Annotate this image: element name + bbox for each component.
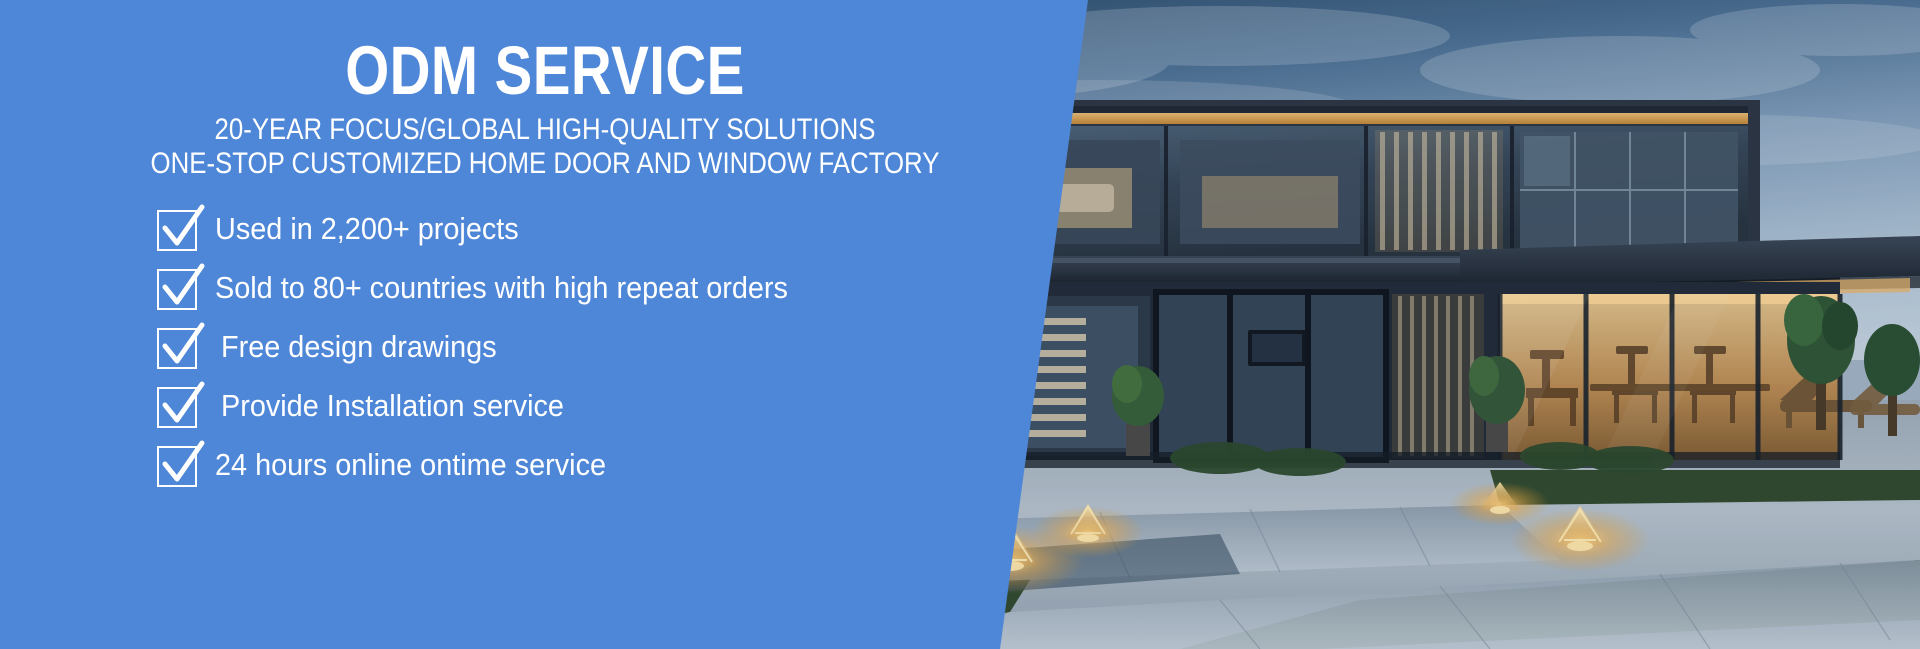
list-item-label: Sold to 80+ countries with high repeat o…	[215, 266, 788, 310]
list-item: 24 hours online ontime service	[157, 443, 831, 487]
list-item-label: Provide Installation service	[221, 384, 564, 428]
checkbox-checked-icon	[157, 266, 199, 310]
checkbox-checked-icon	[157, 325, 199, 369]
checkbox-checked-icon	[157, 207, 199, 251]
list-item-label: 24 hours online ontime service	[215, 443, 606, 487]
subtitle-block: 20-YEAR FOCUS/GLOBAL HIGH-QUALITY SOLUTI…	[0, 113, 1090, 181]
checkbox-checked-icon	[157, 443, 199, 487]
list-item: Used in 2,200+ projects	[157, 207, 831, 251]
subtitle-line-1: 20-YEAR FOCUS/GLOBAL HIGH-QUALITY SOLUTI…	[76, 113, 1013, 147]
list-item: Free design drawings	[157, 325, 831, 369]
odm-service-banner: ODM SERVICE 20-YEAR FOCUS/GLOBAL HIGH-QU…	[0, 0, 1920, 649]
list-item-label: Free design drawings	[221, 325, 497, 369]
list-item: Provide Installation service	[157, 384, 831, 428]
subtitle-line-2: ONE-STOP CUSTOMIZED HOME DOOR AND WINDOW…	[76, 147, 1013, 181]
page-title: ODM SERVICE	[98, 36, 992, 105]
list-item-label: Used in 2,200+ projects	[215, 207, 519, 251]
checkbox-checked-icon	[157, 384, 199, 428]
list-item: Sold to 80+ countries with high repeat o…	[157, 266, 831, 310]
feature-checklist: Used in 2,200+ projects Sold to 80+ coun…	[157, 207, 831, 487]
